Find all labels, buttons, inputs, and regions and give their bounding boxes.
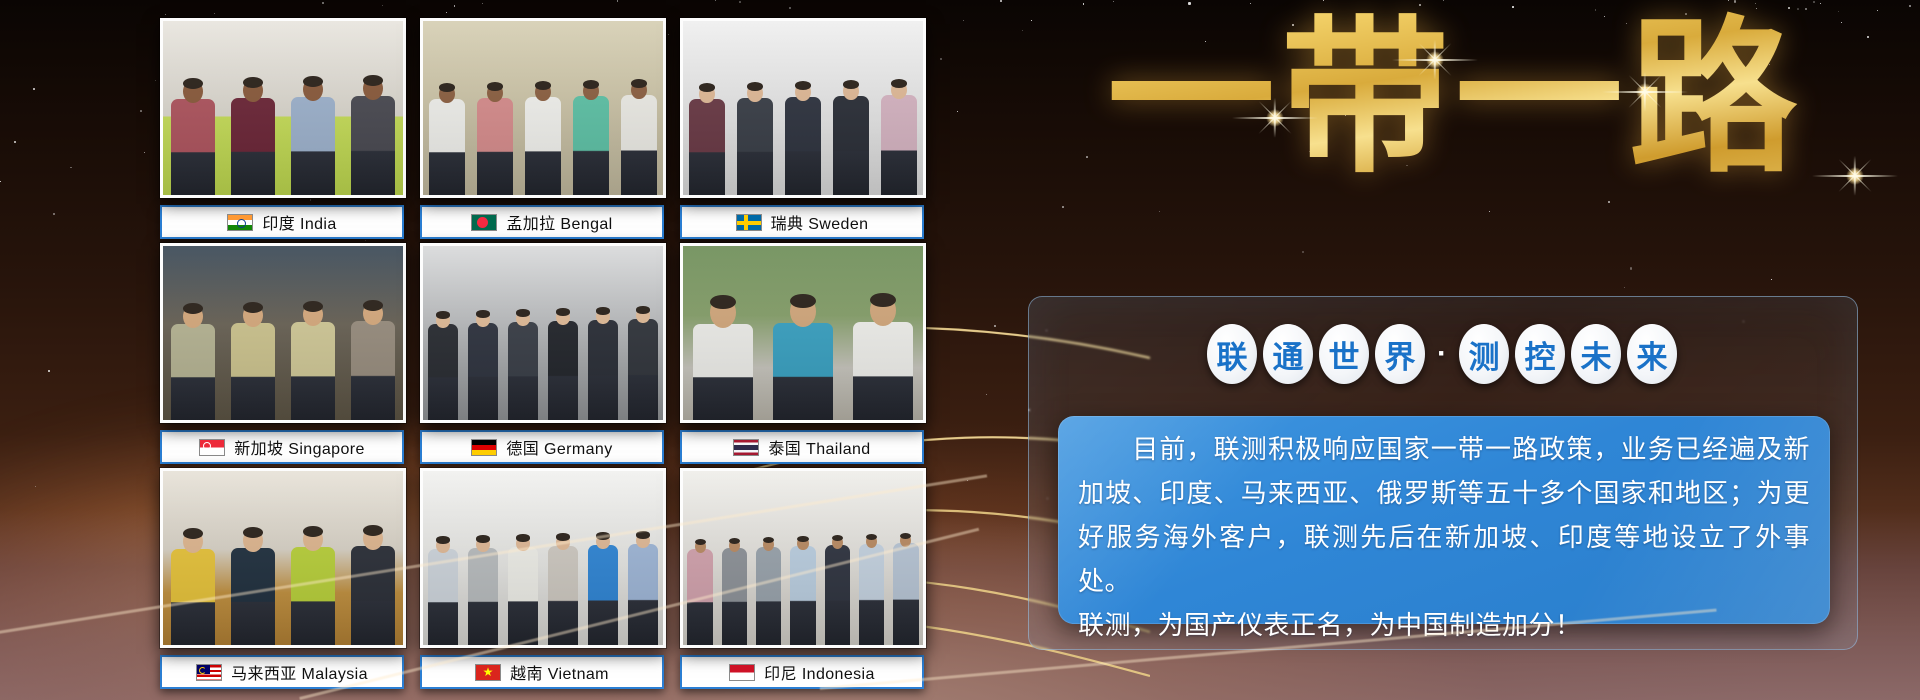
slogan-badge: 来 [1627,324,1677,384]
gallery-item-indonesia[interactable]: 印尼 Indonesia [680,468,920,689]
country-caption: 印度 India [160,205,404,239]
country-label: 瑞典 Sweden [771,210,869,234]
flag-thailand-icon [733,439,759,456]
gallery-item-bengal[interactable]: 孟加拉 Bengal [420,18,660,239]
country-photo-grid: 印度 India孟加拉 Bengal瑞典 Sweden新加坡 Singapore… [160,18,920,678]
gallery-item-india[interactable]: 印度 India [160,18,400,239]
flag-vietnam-icon [475,664,501,681]
slogan-badge: 界 [1375,324,1425,384]
country-label: 越南 Vietnam [510,660,609,684]
description-paragraph-1: 目前，联测积极响应国家一带一路政策，业务已经遍及新加坡、印度、马来西亚、俄罗斯等… [1078,428,1810,604]
flag-malaysia-icon [196,664,222,681]
banner-root: 印度 India孟加拉 Bengal瑞典 Sweden新加坡 Singapore… [0,0,1920,700]
flag-germany-icon [471,439,497,456]
flag-indonesia-icon [729,664,755,681]
gallery-item-thailand[interactable]: 泰国 Thailand [680,243,920,464]
slogan-badge: 联 [1207,324,1257,384]
country-label: 印度 India [262,210,336,234]
slogan-badges: 联通世界·测控未来 [1028,322,1856,386]
country-caption: 孟加拉 Bengal [420,205,664,239]
country-label: 泰国 Thailand [768,435,870,459]
calligraphy-text: 一带一路 [1010,0,1900,202]
gallery-item-singapore[interactable]: 新加坡 Singapore [160,243,400,464]
country-label: 孟加拉 Bengal [506,210,612,234]
country-label: 德国 Germany [506,435,612,459]
slogan-badge: 控 [1515,324,1565,384]
country-caption: 新加坡 Singapore [160,430,404,464]
slogan-badge: 测 [1459,324,1509,384]
slogan-badge: 世 [1319,324,1369,384]
country-photo[interactable] [160,18,406,198]
slogan-separator: · [1431,324,1453,384]
country-photo[interactable] [160,243,406,423]
gallery-item-sweden[interactable]: 瑞典 Sweden [680,18,920,239]
country-caption: 马来西亚 Malaysia [160,655,404,689]
country-caption: 瑞典 Sweden [680,205,924,239]
country-photo[interactable] [420,18,666,198]
country-label: 马来西亚 Malaysia [231,660,368,684]
gallery-item-malaysia[interactable]: 马来西亚 Malaysia [160,468,400,689]
calligraphy-headline: 一带一路 [1010,0,1900,225]
country-photo[interactable] [680,18,926,198]
country-label: 新加坡 Singapore [234,435,365,459]
country-photo[interactable] [160,468,406,648]
country-photo[interactable] [680,468,926,648]
country-label: 印尼 Indonesia [764,660,875,684]
description-box: 目前，联测积极响应国家一带一路政策，业务已经遍及新加坡、印度、马来西亚、俄罗斯等… [1058,416,1830,624]
gallery-item-vietnam[interactable]: 越南 Vietnam [420,468,660,689]
flag-sweden-icon [736,214,762,231]
gallery-item-germany[interactable]: 德国 Germany [420,243,660,464]
country-caption: 泰国 Thailand [680,430,924,464]
country-photo[interactable] [420,243,666,423]
country-photo[interactable] [680,243,926,423]
country-caption: 德国 Germany [420,430,664,464]
flag-bangladesh-icon [471,214,497,231]
slogan-badge: 通 [1263,324,1313,384]
slogan-badge: 未 [1571,324,1621,384]
flag-india-icon [227,214,253,231]
flag-singapore-icon [199,439,225,456]
